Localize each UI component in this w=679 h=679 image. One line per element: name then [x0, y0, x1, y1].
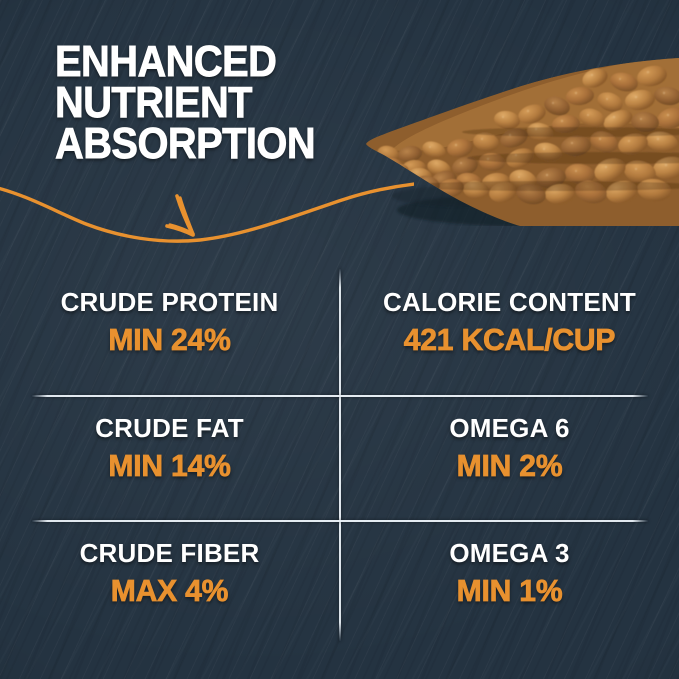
- nutrition-label: CALORIE CONTENT: [340, 289, 679, 315]
- nutrition-value: MAX 4%: [5, 575, 334, 606]
- nutrition-value: MIN 24%: [5, 324, 334, 355]
- nutrition-label: CRUDE FIBER: [0, 540, 339, 566]
- headline-line-3: ABSORPTION: [55, 123, 315, 164]
- nutrition-label: OMEGA 3: [340, 540, 679, 566]
- nutrition-label: CRUDE FAT: [0, 415, 339, 441]
- page-title: ENHANCED NUTRIENT ABSORPTION: [55, 41, 342, 164]
- infographic-canvas: ENHANCED NUTRIENT ABSORPTION CRUDE PROTE…: [0, 0, 679, 679]
- curved-arrow-icon: [0, 168, 414, 264]
- nutrition-cell-calorie-content: CALORIE CONTENT 421 KCAL/CUP: [340, 289, 679, 355]
- nutrition-label: CRUDE PROTEIN: [0, 289, 339, 315]
- nutrition-cell-omega-3: OMEGA 3 MIN 1%: [340, 540, 679, 606]
- nutrition-cell-crude-fat: CRUDE FAT MIN 14%: [0, 415, 339, 481]
- nutrition-value: MIN 2%: [345, 450, 674, 481]
- nutrition-cell-crude-fiber: CRUDE FIBER MAX 4%: [0, 540, 339, 606]
- nutrition-value: 421 KCAL/CUP: [345, 324, 674, 355]
- nutrition-label: OMEGA 6: [340, 415, 679, 441]
- grid-cells: CRUDE PROTEIN MIN 24% CALORIE CONTENT 42…: [0, 255, 679, 655]
- headline-line-1: ENHANCED: [55, 41, 315, 82]
- nutrition-cell-crude-protein: CRUDE PROTEIN MIN 24%: [0, 289, 339, 355]
- nutrition-cell-omega-6: OMEGA 6 MIN 2%: [340, 415, 679, 481]
- nutrition-value: MIN 1%: [345, 575, 674, 606]
- nutrition-value: MIN 14%: [5, 450, 334, 481]
- headline-line-2: NUTRIENT: [55, 82, 315, 123]
- nutrition-grid: CRUDE PROTEIN MIN 24% CALORIE CONTENT 42…: [0, 255, 679, 655]
